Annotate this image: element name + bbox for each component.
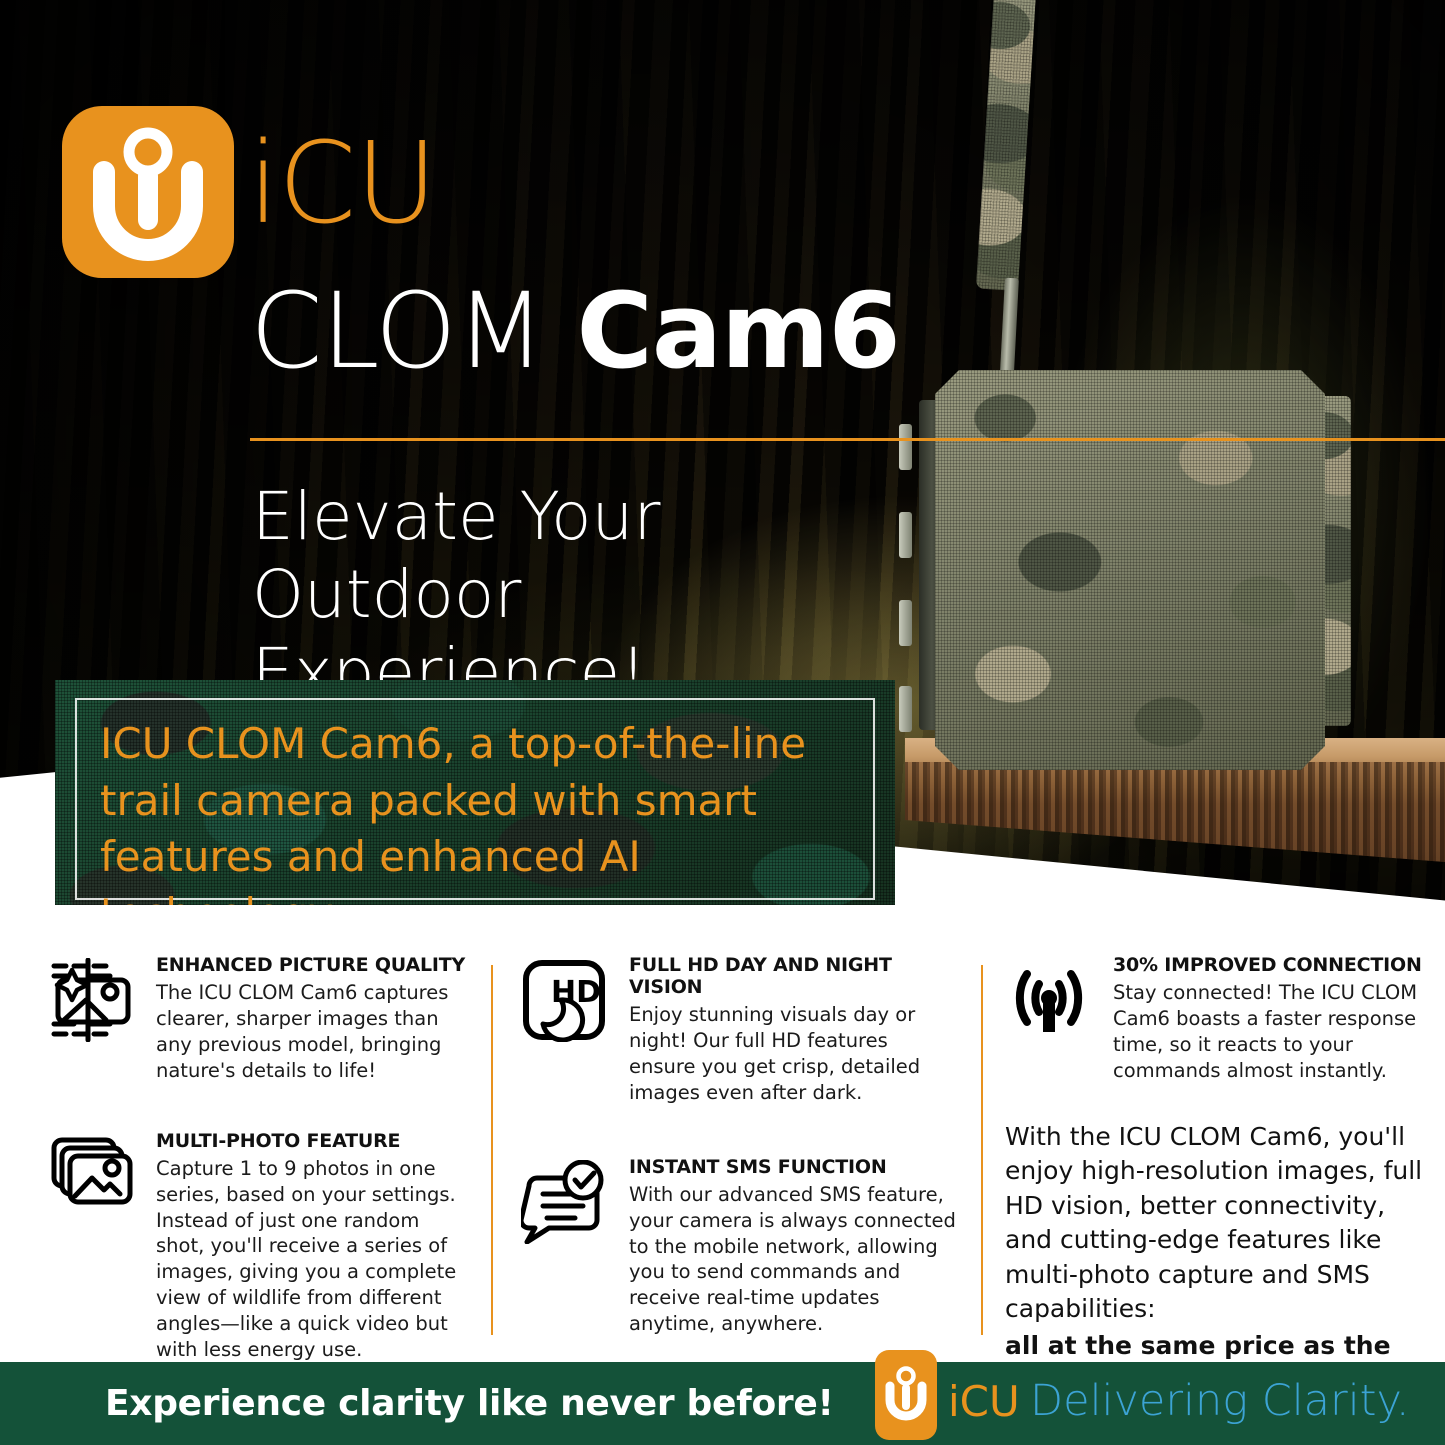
camera-antenna <box>976 0 1036 291</box>
sms-chat-check-icon <box>521 1156 613 1249</box>
feature-column-2: HD FULL HD DAY AND NIGHT VISION Enjoy st… <box>493 930 983 1358</box>
feature-item: ENHANCED PICTURE QUALITY The ICU CLOM Ca… <box>48 954 467 1084</box>
hd-night-vision-icon: HD <box>521 954 613 1047</box>
brand-wordmark: iCU <box>248 128 436 240</box>
feature-column-1: ENHANCED PICTURE QUALITY The ICU CLOM Ca… <box>0 930 493 1358</box>
feature-item: HD FULL HD DAY AND NIGHT VISION Enjoy st… <box>521 954 959 1106</box>
icu-person-logo-icon <box>62 106 234 278</box>
feature-title: FULL HD DAY AND NIGHT VISION <box>629 954 959 998</box>
footer-bar: Experience clarity like never before! iC… <box>0 1362 1445 1445</box>
feature-body: FULL HD DAY AND NIGHT VISION Enjoy stunn… <box>629 954 959 1106</box>
camera-body <box>935 370 1325 770</box>
feature-title: MULTI-PHOTO FEATURE <box>156 1130 467 1152</box>
hinge-pin <box>899 686 912 732</box>
product-camera-image <box>945 0 1365 790</box>
feature-body: MULTI-PHOTO FEATURE Capture 1 to 9 photo… <box>156 1130 467 1363</box>
feature-column-3: 30% IMPROVED CONNECTION Stay connected! … <box>983 930 1445 1358</box>
hinge-pin <box>899 424 912 470</box>
feature-item: 30% IMPROVED CONNECTION Stay connected! … <box>1005 954 1425 1084</box>
icu-person-logo-icon <box>875 1350 937 1440</box>
footer-claim-text: Delivering Clarity. <box>1030 1380 1410 1423</box>
feature-body: 30% IMPROVED CONNECTION Stay connected! … <box>1113 954 1425 1084</box>
enhanced-photo-icon <box>48 954 140 1047</box>
footer-brand-wordmark: iCU <box>948 1381 1020 1423</box>
feature-body: ENHANCED PICTURE QUALITY The ICU CLOM Ca… <box>156 954 467 1084</box>
hinge-pin <box>899 600 912 646</box>
product-title: CLOM Cam6 <box>250 270 900 392</box>
summary-paragraph: With the ICU CLOM Cam6, you'll enjoy hig… <box>1005 1120 1425 1398</box>
feature-text: Stay connected! The ICU CLOM Cam6 boasts… <box>1113 980 1425 1084</box>
callout-text: ICU CLOM Cam6, a top-of-the-line trail c… <box>100 716 870 905</box>
feature-text: The ICU CLOM Cam6 captures clearer, shar… <box>156 980 467 1084</box>
feature-body: INSTANT SMS FUNCTION With our advanced S… <box>629 1156 959 1338</box>
product-title-model: Cam6 <box>577 270 900 392</box>
feature-title: ENHANCED PICTURE QUALITY <box>156 954 467 976</box>
feature-text: Enjoy stunning visuals day or night! Our… <box>629 1002 959 1106</box>
feature-item: MULTI-PHOTO FEATURE Capture 1 to 9 photo… <box>48 1130 467 1363</box>
features-section: ENHANCED PICTURE QUALITY The ICU CLOM Ca… <box>0 930 1445 1358</box>
feature-text: With our advanced SMS feature, your came… <box>629 1182 959 1338</box>
multi-photo-stack-icon <box>48 1130 140 1219</box>
footer-slogan: Experience clarity like never before! <box>105 1383 834 1424</box>
hero-tagline: Elevate Your Outdoor Experience! <box>252 478 892 712</box>
product-title-prefix: CLOM <box>250 270 577 392</box>
hero-section: iCU CLOM Cam6 Elevate Your Outdoor Exper… <box>0 0 1445 905</box>
summary-text: With the ICU CLOM Cam6, you'll enjoy hig… <box>1005 1122 1422 1324</box>
feature-text: Capture 1 to 9 photos in one series, bas… <box>156 1156 467 1363</box>
feature-item: INSTANT SMS FUNCTION With our advanced S… <box>521 1156 959 1338</box>
feature-title: 30% IMPROVED CONNECTION <box>1113 954 1425 976</box>
hinge-pin <box>899 512 912 558</box>
feature-title: INSTANT SMS FUNCTION <box>629 1156 959 1178</box>
signal-antenna-icon <box>1005 954 1097 1043</box>
title-divider-rule <box>250 438 1445 441</box>
